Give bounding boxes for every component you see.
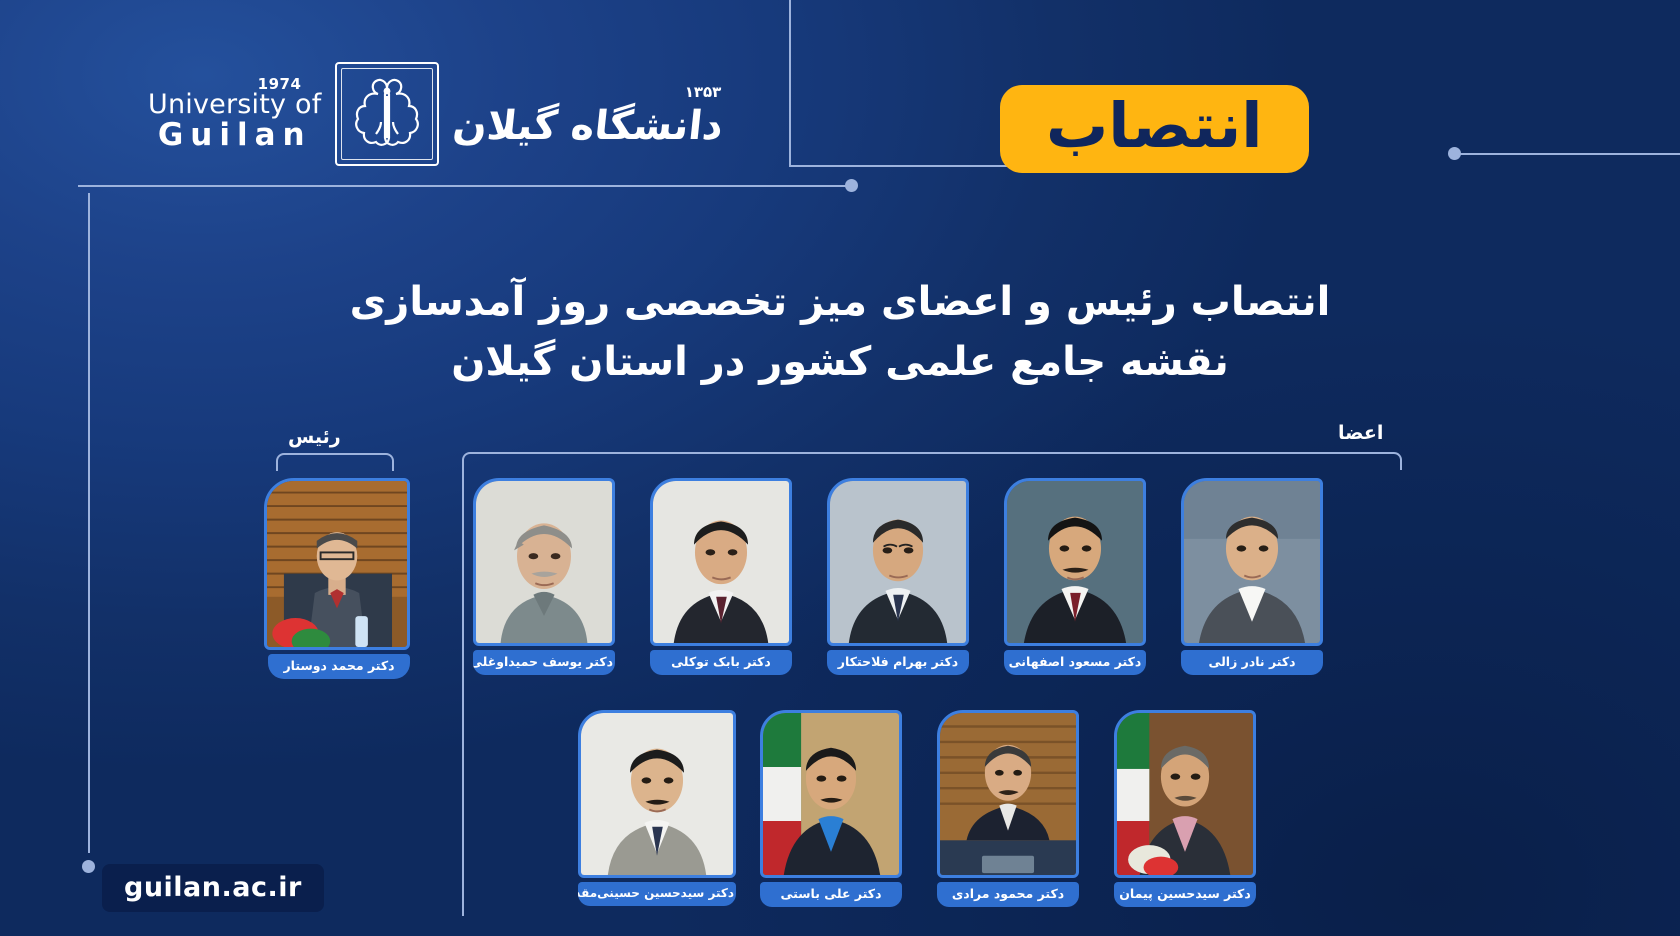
appointment-badge: انتصاب <box>1000 85 1309 173</box>
person-name: دکتر بهرام فلاحتکار <box>827 650 969 675</box>
decor-dot-left-bottom <box>82 860 95 873</box>
person-card-member[interactable]: دکتر سیدحسین حسینی‌مقدم <box>578 710 736 906</box>
person-card-member[interactable]: دکتر محمود مرادی <box>937 710 1079 907</box>
person-name: دکتر علی باستی <box>760 882 902 907</box>
person-card-member[interactable]: دکتر مسعود اصفهانی <box>1004 478 1146 675</box>
portrait-masoud-esfahani <box>1007 481 1143 643</box>
logo-university-word: University of <box>148 91 321 118</box>
person-card-member[interactable]: دکتر بهرام فلاحتکار <box>827 478 969 675</box>
person-photo-frame <box>264 478 410 650</box>
poster-canvas: 1974 University of Guilan ۱۳۵۳ دانشگاه گ… <box>0 0 1680 936</box>
person-name: دکتر سیدحسین پیمان <box>1114 882 1256 907</box>
person-photo-frame <box>578 710 736 878</box>
bracket-chair <box>276 453 394 471</box>
person-photo-frame <box>760 710 902 878</box>
portrait-ali-basti <box>763 713 899 875</box>
person-name: دکتر یوسف حمیداوغلی <box>473 650 615 675</box>
person-name: دکتر نادر زالی <box>1181 650 1323 675</box>
person-name: دکتر بابک توکلی <box>650 650 792 675</box>
portrait-yousef-hamidoghli <box>476 481 612 643</box>
decor-line-under-logo <box>78 185 848 187</box>
page-title: انتصاب رئیس و اعضای میز تخصصی روز آمدساز… <box>0 272 1680 392</box>
person-name: دکتر محمود مرادی <box>937 882 1079 907</box>
logo-persian-name: دانشگاه گیلان <box>451 103 726 149</box>
portrait-mahmoud-moradi <box>940 713 1076 875</box>
guilan-emblem-icon <box>335 62 439 166</box>
person-photo-frame <box>473 478 615 646</box>
person-photo-frame <box>650 478 792 646</box>
page-title-line-2: نقشه جامع علمی کشور در استان گیلان <box>180 332 1500 392</box>
decor-dot-right-start <box>1448 147 1461 160</box>
portrait-nader-zali <box>1184 481 1320 643</box>
person-card-member[interactable]: دکتر نادر زالی <box>1181 478 1323 675</box>
portrait-bahram-falahatkar <box>830 481 966 643</box>
portrait-babak-tavakoli <box>653 481 789 643</box>
university-logo: 1974 University of Guilan ۱۳۵۳ دانشگاه گ… <box>148 62 723 166</box>
logo-guilan-word: Guilan <box>148 120 321 151</box>
person-name: دکتر محمد دوستار <box>268 654 410 679</box>
person-name: دکتر سیدحسین حسینی‌مقدم <box>578 882 736 906</box>
person-name: دکتر مسعود اصفهانی <box>1004 650 1146 675</box>
decor-line-right <box>1455 153 1680 155</box>
portrait-seyed-hossein-peyman <box>1117 713 1253 875</box>
section-label-members: اعضا <box>1338 422 1383 444</box>
person-photo-frame <box>937 710 1079 878</box>
decor-line-vertical-top <box>789 0 791 167</box>
logo-year-hijri: ۱۳۵۳ <box>685 83 722 101</box>
person-photo-frame <box>1114 710 1256 878</box>
person-photo-frame <box>1181 478 1323 646</box>
portrait-seyed-hossein-hosseini-moghaddam <box>581 713 733 875</box>
logo-persian-text: ۱۳۵۳ دانشگاه گیلان <box>453 79 723 149</box>
bracket-members <box>462 452 1402 470</box>
person-card-member[interactable]: دکتر بابک توکلی <box>650 478 792 675</box>
section-label-chair: رئیس <box>288 426 341 448</box>
portrait-mohammad-doostar <box>267 481 407 647</box>
logo-year-gregorian: 1974 <box>258 77 302 92</box>
person-card-member[interactable]: دکتر سیدحسین پیمان <box>1114 710 1256 907</box>
person-card-chair[interactable]: دکتر محمد دوستار <box>268 478 410 679</box>
person-card-member[interactable]: دکتر یوسف حمیداوغلی <box>473 478 615 675</box>
logo-english-text: 1974 University of Guilan <box>148 77 321 151</box>
person-card-member[interactable]: دکتر علی باستی <box>760 710 902 907</box>
decor-dot-logo-end <box>845 179 858 192</box>
page-title-line-1: انتصاب رئیس و اعضای میز تخصصی روز آمدساز… <box>180 272 1500 332</box>
person-photo-frame <box>827 478 969 646</box>
website-url-badge[interactable]: guilan.ac.ir <box>102 864 324 912</box>
person-photo-frame <box>1004 478 1146 646</box>
bracket-members-stem <box>462 468 464 916</box>
